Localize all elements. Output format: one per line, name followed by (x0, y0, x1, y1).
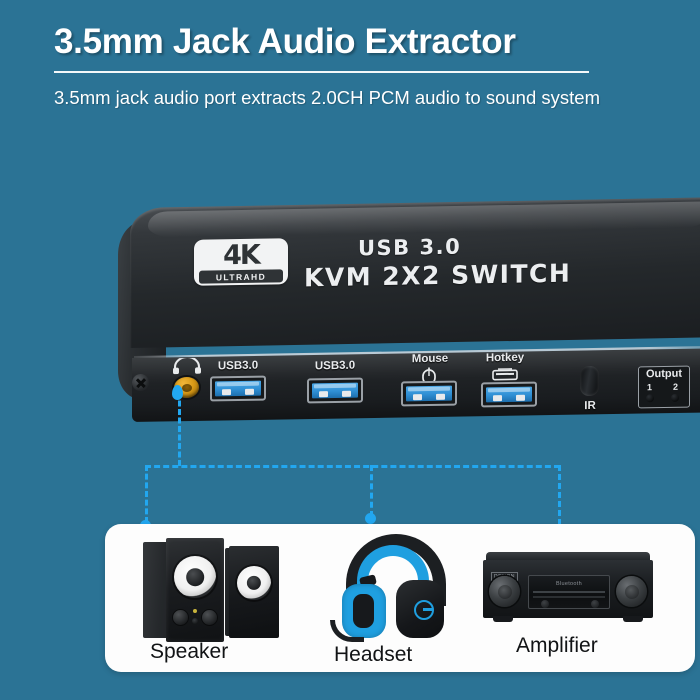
ir-sensor (580, 366, 599, 396)
speaker-right-driver (237, 566, 271, 600)
headset-icon (330, 534, 460, 652)
port-label-usb3-2: USB3.0 (303, 359, 367, 372)
kvm-switch-device: 4K ULTRAHD USB 3.0 KVM 2X2 SWITCH USB3.0 (118, 208, 700, 423)
speaker-knob-right[interactable] (202, 610, 217, 625)
usb-contact-block (312, 383, 358, 399)
speaker-power-led (193, 609, 197, 613)
connector-trunk-vertical (178, 392, 181, 466)
amplifier-small-control-1[interactable] (541, 600, 549, 608)
output-led-2 (671, 394, 679, 402)
headphone-icon (172, 358, 202, 374)
port-label-hotkey: Hotkey (474, 351, 536, 364)
usb-contact-block (215, 381, 261, 397)
amplifier-foot-left (493, 616, 513, 622)
connected-devices-panel: DENON Bluetooth Speaker Headset Amplifie… (105, 524, 695, 672)
amplifier-knob-right[interactable] (616, 576, 647, 607)
mouse-usb-port[interactable] (401, 381, 457, 407)
badge-4k-text: 4K (223, 242, 259, 270)
4k-ultrahd-badge: 4K ULTRAHD (194, 238, 288, 286)
header-section: 3.5mm Jack Audio Extractor 3.5mm jack au… (0, 0, 700, 150)
caption-speaker: Speaker (150, 640, 228, 664)
speaker-aux-port (192, 618, 198, 624)
device-brand-line-1: USB 3.0 (358, 233, 571, 261)
badge-ultrahd-text: ULTRAHD (199, 269, 283, 283)
connector-endpoint-headset (365, 513, 376, 524)
usb-contact-block (406, 386, 452, 402)
amplifier-screen-text: Bluetooth (529, 581, 609, 587)
connector-branch-headset (370, 465, 373, 517)
connector-branch-speaker (145, 465, 148, 523)
output-box-title: Output (639, 368, 689, 381)
hotkey-usb-port[interactable] (481, 382, 537, 408)
headset-brand-logo (414, 600, 434, 620)
device-brand-line-2: KVM 2X2 SWITCH (304, 259, 571, 293)
speaker-knob-left[interactable] (173, 610, 188, 625)
usb3-port-2[interactable] (307, 378, 363, 404)
amplifier-knob-left[interactable] (489, 576, 520, 607)
port-label-usb3-1: USB3.0 (206, 359, 270, 372)
device-branding: USB 3.0 KVM 2X2 SWITCH (304, 233, 571, 293)
amplifier-small-control-2[interactable] (591, 600, 599, 608)
speaker-left-driver (174, 556, 216, 598)
keyboard-icon (492, 367, 518, 381)
infographic-page: 3.5mm Jack Audio Extractor 3.5mm jack au… (0, 0, 700, 700)
page-subtitle: 3.5mm jack audio port extracts 2.0CH PCM… (54, 86, 624, 110)
amplifier-icon: DENON Bluetooth (483, 552, 653, 626)
page-title: 3.5mm Jack Audio Extractor (54, 22, 516, 62)
speaker-left-front (166, 538, 224, 642)
output-indicator-box: Output 1 2 (638, 366, 690, 409)
caption-amplifier: Amplifier (516, 634, 598, 658)
ir-label: IR (570, 400, 610, 413)
device-top-gloss (148, 201, 700, 237)
usb3-port-1[interactable] (210, 376, 266, 402)
headset-boom-microphone (330, 620, 364, 642)
title-underline (54, 71, 589, 73)
amplifier-front-panel: DENON Bluetooth (483, 560, 653, 618)
caption-headset: Headset (334, 643, 412, 667)
amplifier-foot-right (623, 616, 643, 622)
output-led-1 (646, 394, 654, 402)
output-channel-label-2: 2 (673, 382, 678, 392)
port-label-mouse: Mouse (401, 353, 459, 366)
speaker-icon (133, 538, 293, 638)
speaker-right-front (229, 546, 279, 638)
connector-bus-horizontal (145, 465, 560, 468)
usb-contact-block (486, 387, 532, 403)
output-channel-label-1: 1 (647, 382, 652, 392)
